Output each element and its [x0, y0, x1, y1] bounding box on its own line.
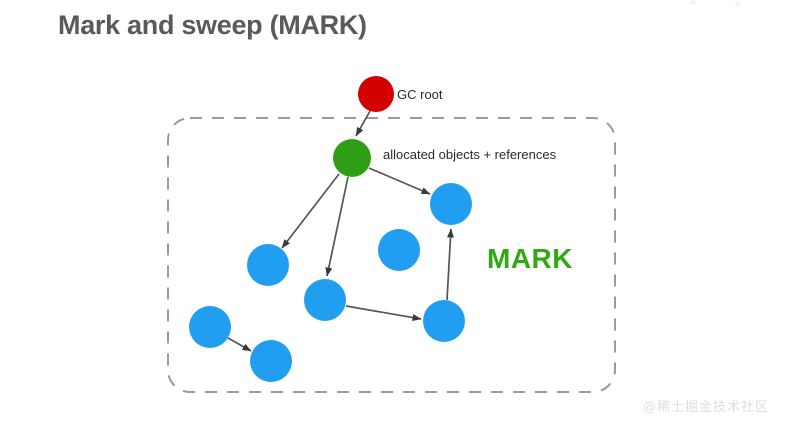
node-object-left[interactable]	[247, 244, 289, 286]
edge-object-right-lower-to-object-upper-right	[447, 229, 451, 300]
node-object-center-lower[interactable]	[304, 279, 346, 321]
node-object-bottom-left-a[interactable]	[189, 306, 231, 348]
node-gc-root[interactable]	[358, 76, 394, 112]
gc-root-label: GC root	[397, 87, 443, 102]
edge-root-object-to-object-left	[282, 174, 339, 248]
node-object-right-lower[interactable]	[423, 300, 465, 342]
node-root-object[interactable]	[333, 139, 371, 177]
edge-root-object-to-object-upper-right	[369, 168, 430, 194]
allocated-objects-label: allocated objects + references	[383, 147, 557, 162]
mark-phase-diagram: GC root allocated objects + references M…	[0, 0, 800, 423]
node-object-bottom-left-b[interactable]	[250, 340, 292, 382]
slide-canvas: Mark and sweep (MARK) GC r	[0, 0, 800, 423]
node-object-upper-right[interactable]	[430, 183, 472, 225]
watermark: @稀土掘金技术社区	[643, 396, 769, 415]
edge-root-object-to-object-center-lower	[327, 177, 348, 276]
edge-object-center-lower-to-object-right-lower	[346, 306, 421, 319]
node-object-center-isolated[interactable]	[378, 229, 420, 271]
edge-gc-root-to-root-object	[356, 111, 370, 136]
mark-phase-label: MARK	[487, 243, 573, 274]
edge-object-bottom-left-a-to-b	[228, 338, 251, 351]
